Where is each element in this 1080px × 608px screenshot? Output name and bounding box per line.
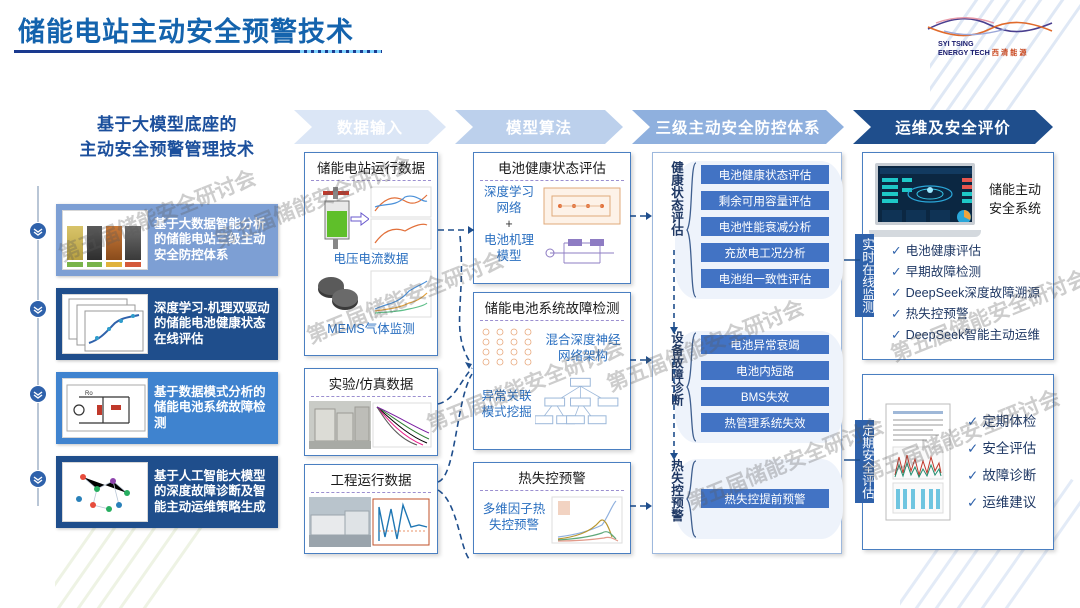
degradation-curves-chart [371, 401, 433, 449]
logo-text-block: SYI TSING ENERGY TECH 西清能源 [914, 40, 1066, 57]
left-item-3-label: 基于数据模式分析的储能电池系统故障检测 [148, 385, 278, 432]
card-operation-data[interactable]: 储能电站运行数据 电压电流数据 [304, 152, 438, 356]
banner-model-algorithm-label: 模型算法 [506, 116, 572, 138]
test-chamber-photo [309, 401, 371, 449]
periodic-check-3[interactable]: ✓故障诊断 [967, 462, 1036, 489]
card-fault-detection-title: 储能电池系统故障检测 [474, 293, 630, 320]
svg-text:Ro: Ro [85, 391, 93, 397]
chip-health-3[interactable]: 电池性能衰减分析 [701, 217, 829, 236]
periodic-check-2[interactable]: ✓安全评估 [967, 435, 1036, 462]
banner-operations[interactable]: 运维及安全评价 [853, 110, 1053, 144]
thermal-runaway-body: 多维因子热 失控预警 [474, 491, 630, 549]
card-realtime-monitoring[interactable]: 储能主动 安全系统 ✓电池健康评估 ✓早期故障检测 ✓DeepSeek深度故障溯… [862, 152, 1054, 360]
chip-fault-4[interactable]: 热管理系统失效 [701, 413, 829, 432]
card-experiment-data-title: 实验/仿真数据 [305, 369, 437, 396]
card-experiment-data[interactable]: 实验/仿真数据 [304, 368, 438, 456]
chip-fault-1[interactable]: 电池异常衰竭 [701, 335, 829, 354]
system-name-line-1: 储能主动 [989, 180, 1041, 199]
left-item-4-thumbnail [62, 462, 148, 522]
logo-wave-icon [914, 14, 1066, 40]
chip-thermal-1[interactable]: 热失控提前预警 [701, 489, 829, 508]
periodic-vertical-tab: 定期安全评估 [855, 420, 874, 503]
equivalent-circuit-diagram [540, 233, 624, 271]
realtime-check-3[interactable]: ✓DeepSeek深度故障溯源 [891, 283, 1053, 304]
title-underline-dashes [300, 50, 382, 53]
operation-data-caption-1: 电压电流数据 [305, 251, 437, 267]
group-fault-diagnosis[interactable]: 设备故障诊断 电池异常衰竭 电池内短路 BMS失效 热管理系统失效 [667, 331, 843, 443]
chip-health-1[interactable]: 电池健康状态评估 [701, 165, 829, 184]
soh-caption-1: 深度学习 [478, 184, 540, 200]
experiment-data-visuals [305, 397, 437, 453]
banner-safety-system-label: 三级主动安全防控体系 [655, 116, 820, 138]
realtime-check-4[interactable]: ✓热失控预警 [891, 304, 1053, 325]
timeline-marker-1 [29, 222, 47, 240]
check-icon: ✓ [891, 265, 902, 279]
group-health-label: 健康状态评估 [667, 161, 682, 236]
tr-caption-1: 多维因子热 [478, 501, 550, 517]
left-item-4[interactable]: 基于人工智能大模型的深度故障诊断及智能主动运维策略生成 [56, 456, 278, 528]
decision-tree-diagram [535, 374, 626, 430]
banner-operations-label: 运维及安全评价 [895, 116, 1011, 138]
card-fault-detection[interactable]: 储能电池系统故障检测 混合深度神经 网络架构 异常关联 模式挖掘 [473, 292, 631, 450]
left-heading-line-2: 主动安全预警管理技术 [58, 137, 276, 162]
left-item-3-thumbnail: Ro [62, 378, 148, 438]
soh-caption-4: 模型 [478, 248, 540, 264]
chip-health-2[interactable]: 剩余可用容量评估 [701, 191, 829, 210]
chip-health-5[interactable]: 电池组一致性评估 [701, 269, 829, 288]
group-fault-label: 设备故障诊断 [667, 331, 682, 406]
card-soh-title: 电池健康状态评估 [474, 153, 630, 180]
battery-cell-icon [309, 185, 369, 251]
chip-fault-2[interactable]: 电池内短路 [701, 361, 829, 380]
realtime-checklist: ✓电池健康评估 ✓早期故障检测 ✓DeepSeek深度故障溯源 ✓热失控预警 ✓… [863, 239, 1053, 346]
brace-icon [685, 459, 698, 539]
operation-data-row-1 [305, 181, 437, 251]
card-thermal-runaway-warning[interactable]: 热失控预警 多维因子热 失控预警 [473, 462, 631, 554]
left-item-2-thumbnail [62, 294, 148, 354]
card-engineering-data-title: 工程运行数据 [305, 465, 437, 492]
fault-caption-1: 混合深度神经 [540, 332, 626, 348]
page-title: 储能电站主动安全预警技术 [18, 10, 354, 49]
card-engineering-data[interactable]: 工程运行数据 [304, 464, 438, 554]
engineering-data-visuals [305, 493, 437, 551]
check-icon: ✓ [967, 495, 978, 510]
dense-network-icon [478, 324, 540, 374]
left-item-4-label: 基于人工智能大模型的深度故障诊断及智能主动运维策略生成 [148, 469, 278, 516]
left-item-1-label: 基于大数据智能分析的储能电站三级主动安全防控体系 [148, 217, 278, 264]
left-item-1-thumbnail [62, 210, 148, 270]
thermal-runaway-chart [550, 495, 624, 545]
engineering-signal-chart [371, 497, 431, 547]
soh-caption-2: 网络 [478, 200, 540, 216]
check-icon: ✓ [891, 286, 902, 300]
neural-network-diagram [540, 184, 624, 228]
soh-plus-sign: + [478, 216, 540, 232]
check-icon: ✓ [891, 328, 902, 342]
banner-model-algorithm[interactable]: 模型算法 [455, 110, 623, 144]
fault-caption-2: 网络架构 [540, 348, 626, 364]
card-thermal-runaway-title: 热失控预警 [474, 463, 630, 490]
container-station-photo [309, 497, 371, 547]
left-item-2-label: 深度学习-机理双驱动的储能电池健康状态在线评估 [148, 301, 278, 348]
company-logo: SYI TSING ENERGY TECH 西清能源 [914, 14, 1066, 58]
left-item-3[interactable]: Ro 基于数据模式分析的储能电池系统故障检测 [56, 372, 278, 444]
banner-safety-system[interactable]: 三级主动安全防控体系 [632, 110, 844, 144]
group-thermal-warning[interactable]: 热失控预警 热失控提前预警 [667, 459, 843, 539]
periodic-checklist: ✓定期体检 ✓安全评估 ✓故障诊断 ✓运维建议 [967, 408, 1036, 516]
realtime-check-1[interactable]: ✓电池健康评估 [891, 241, 1053, 262]
soh-body: 深度学习 网络 + 电池机理 模型 [474, 181, 630, 279]
banner-data-input[interactable]: 数据输入 [294, 110, 446, 144]
check-icon: ✓ [967, 414, 978, 429]
check-icon: ✓ [891, 307, 902, 321]
voltage-current-chart [369, 185, 433, 251]
tr-caption-2: 失控预警 [478, 517, 550, 533]
left-item-2[interactable]: 深度学习-机理双驱动的储能电池健康状态在线评估 [56, 288, 278, 360]
group-health-assessment[interactable]: 健康状态评估 电池健康状态评估 剩余可用容量评估 电池性能衰减分析 充放电工况分… [667, 161, 843, 299]
chip-health-4[interactable]: 充放电工况分析 [701, 243, 829, 262]
timeline-marker-3 [29, 385, 47, 403]
card-operation-data-title: 储能电站运行数据 [305, 153, 437, 180]
periodic-body: ✓定期体检 ✓安全评估 ✓故障诊断 ✓运维建议 [863, 375, 1053, 549]
realtime-system-name: 储能主动 安全系统 [989, 180, 1041, 218]
check-icon: ✓ [891, 244, 902, 258]
periodic-check-1[interactable]: ✓定期体检 [967, 408, 1036, 435]
assessment-report-icon [885, 403, 951, 521]
realtime-system-row: 储能主动 安全系统 [863, 153, 1053, 239]
logo-chinese-name: 西清能源 [992, 48, 1029, 57]
timeline-marker-2 [29, 300, 47, 318]
fault-caption-3: 异常关联 [478, 388, 535, 404]
chip-fault-3[interactable]: BMS失效 [701, 387, 829, 406]
periodic-check-4[interactable]: ✓运维建议 [967, 489, 1036, 516]
gas-monitoring-chart [369, 269, 433, 321]
fault-row-1: 混合深度神经 网络架构 [474, 321, 630, 374]
check-icon: ✓ [967, 441, 978, 456]
left-panel-heading: 基于大模型底座的 主动安全预警管理技术 [58, 112, 276, 162]
left-heading-line-1: 基于大模型底座的 [58, 112, 276, 137]
operation-data-row-2 [305, 267, 437, 321]
logo-line-2: ENERGY TECH [938, 48, 990, 57]
left-item-1[interactable]: 基于大数据智能分析的储能电站三级主动安全防控体系 [56, 204, 278, 276]
group-thermal-label: 热失控预警 [667, 459, 682, 522]
slide-root: 储能电站主动安全预警技术 SYI TSING ENERGY TECH 西清能源 … [0, 0, 1080, 608]
timeline-marker-4 [29, 470, 47, 488]
brace-icon [685, 161, 698, 299]
soh-caption-3: 电池机理 [478, 232, 540, 248]
card-soh-assessment[interactable]: 电池健康状态评估 深度学习 网络 + 电池机理 模型 [473, 152, 631, 284]
brace-icon [685, 331, 698, 443]
banner-data-input-label: 数据输入 [337, 116, 403, 138]
realtime-check-5[interactable]: ✓DeepSeek智能主动运维 [891, 325, 1053, 346]
mems-sensor-icon [309, 269, 369, 321]
realtime-check-2[interactable]: ✓早期故障检测 [891, 262, 1053, 283]
fault-row-2: 异常关联 模式挖掘 [474, 374, 630, 430]
realtime-vertical-tab: 实时在线监测 [855, 234, 874, 317]
dashboard-laptop-icon [869, 161, 981, 237]
check-icon: ✓ [967, 468, 978, 483]
panel-safety-system: 健康状态评估 电池健康状态评估 剩余可用容量评估 电池性能衰减分析 充放电工况分… [652, 152, 842, 554]
operation-data-caption-2: MEMS气体监测 [305, 321, 437, 337]
card-periodic-assessment[interactable]: ✓定期体检 ✓安全评估 ✓故障诊断 ✓运维建议 [862, 374, 1054, 550]
system-name-line-2: 安全系统 [989, 199, 1041, 218]
fault-caption-4: 模式挖掘 [478, 404, 535, 420]
